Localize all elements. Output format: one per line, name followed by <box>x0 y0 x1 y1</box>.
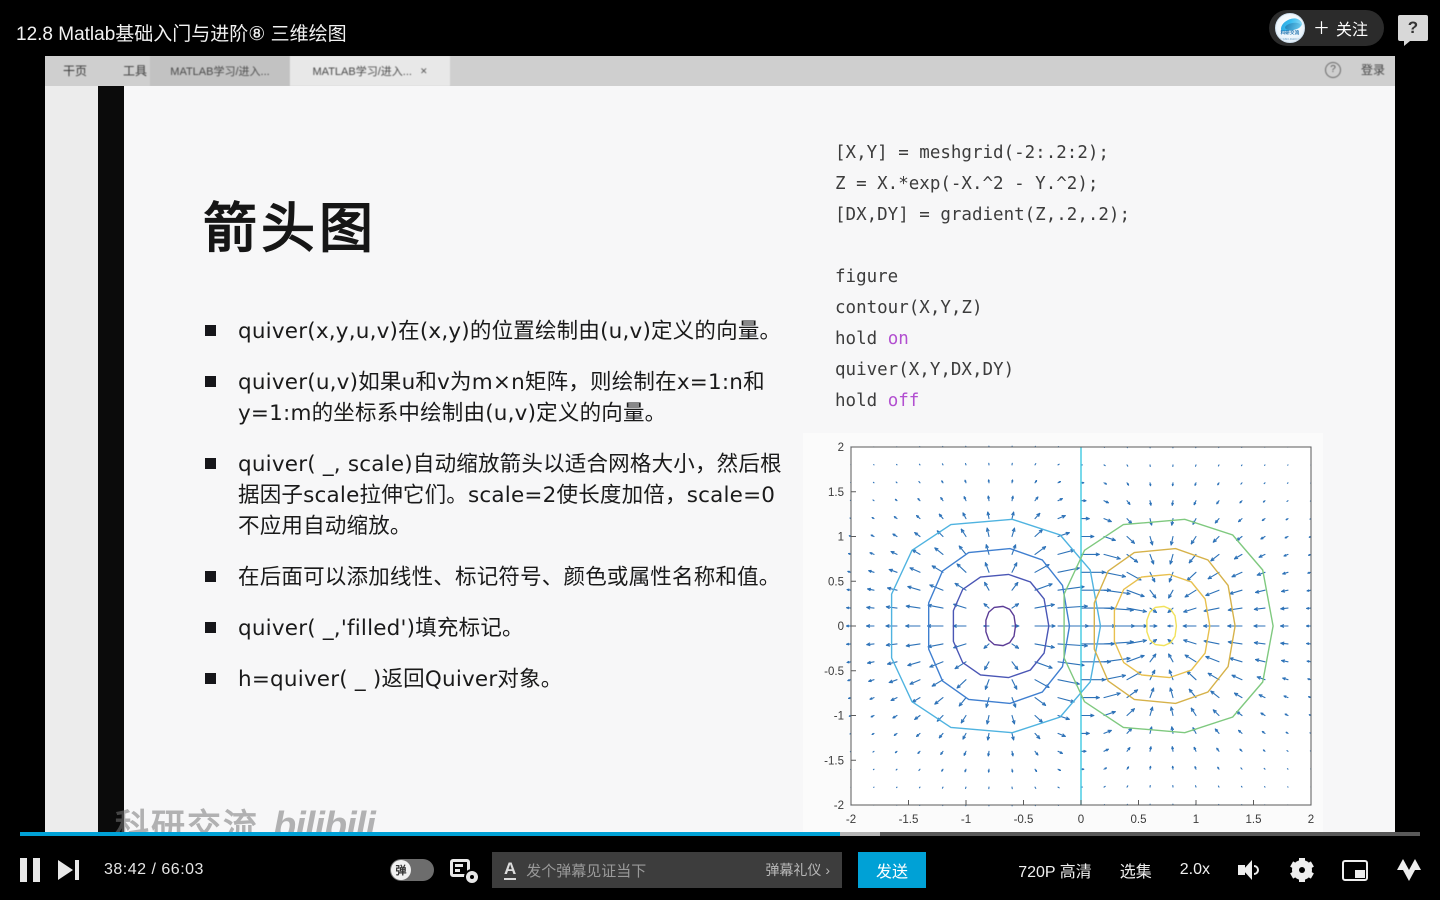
bullet-text: 在后面可以添加线性、标记符号、颜色或属性名称和值。 <box>238 562 781 593</box>
slide-left-margin <box>45 86 98 832</box>
browser-help-icon[interactable]: ? <box>1325 62 1341 78</box>
svg-text:1.5: 1.5 <box>828 487 844 499</box>
svg-text:1: 1 <box>838 532 844 544</box>
danmaku-input[interactable]: A 发个弹幕见证当下 弹幕礼仪 › <box>492 852 842 888</box>
bullet-text: quiver(u,v)如果u和v为m×n矩阵，则绘制在x=1:n和y=1:m的坐… <box>238 367 790 429</box>
svg-text:1.5: 1.5 <box>1246 814 1262 826</box>
code-line: quiver(X,Y,DX,DY) <box>835 360 1014 380</box>
svg-text:0: 0 <box>838 621 844 633</box>
picture-in-picture-icon[interactable] <box>1342 860 1368 881</box>
browser-toolbar: 干页 工具 MATLAB学习/进入... MATLAB学习/进入... ✕ ? … <box>45 56 1395 86</box>
bullet-square-icon <box>205 376 216 387</box>
playback-speed-button[interactable]: 2.0x <box>1180 861 1210 879</box>
bullet-text: h=quiver( _ )返回Quiver对象。 <box>238 664 563 695</box>
svg-text:0.5: 0.5 <box>828 576 844 588</box>
code-line: contour(X,Y,Z) <box>835 298 983 318</box>
bullet-square-icon <box>205 673 216 684</box>
browser-menu-item-1[interactable]: 工具 <box>123 62 147 79</box>
svg-text:-2: -2 <box>834 800 844 812</box>
current-time: 38:42 <box>104 861 147 878</box>
matlab-figure: -2-1.5-1-0.500.511.52-2-1.5-1-0.500.511.… <box>803 433 1323 832</box>
code-line: hold <box>835 329 888 349</box>
svg-text:2: 2 <box>838 442 844 454</box>
svg-text:-0.5: -0.5 <box>1014 814 1034 826</box>
svg-text:-1: -1 <box>834 711 844 723</box>
avatar-subname: KE YAN JIAO LIU <box>1276 37 1304 41</box>
code-keyword: on <box>888 329 909 349</box>
close-icon[interactable]: ✕ <box>420 66 428 77</box>
browser-tab-0-label: MATLAB学习/进入... <box>170 63 269 79</box>
danmaku-etiquette-link[interactable]: 弹幕礼仪 › <box>765 860 842 880</box>
bullet-square-icon <box>205 458 216 469</box>
progress-bar[interactable] <box>0 826 1440 840</box>
code-line: [X,Y] = meshgrid(-2:.2:2); <box>835 143 1109 163</box>
bullet-text: quiver( _, scale)自动缩放箭头以适合网格大小，然后根据因子sca… <box>238 449 790 542</box>
svg-text:-1.5: -1.5 <box>899 814 919 826</box>
follow-label: 关注 <box>1336 16 1368 40</box>
gear-icon[interactable] <box>1290 858 1314 882</box>
player-controls: 38:42 / 66:03 弹 A 发个弹幕见证当下 弹幕礼仪 › 发送 720… <box>0 840 1440 900</box>
pause-icon <box>20 858 40 882</box>
send-button[interactable]: 发送 <box>858 852 926 888</box>
controls-middle: 弹 A 发个弹幕见证当下 弹幕礼仪 › 发送 <box>390 840 926 900</box>
danmaku-toggle[interactable]: 弹 <box>390 859 434 881</box>
slide-canvas: 箭头图 quiver(x,y,u,v)在(x,y)的位置绘制由(u,v)定义的向… <box>45 86 1395 832</box>
slide-title: 箭头图 <box>203 184 377 263</box>
code-block: [X,Y] = meshgrid(-2:.2:2); Z = X.*exp(-X… <box>835 138 1305 417</box>
video-stage[interactable]: 干页 工具 MATLAB学习/进入... MATLAB学习/进入... ✕ ? … <box>45 56 1395 832</box>
time-separator: / <box>152 861 157 878</box>
bullet-text: quiver(x,y,u,v)在(x,y)的位置绘制由(u,v)定义的向量。 <box>238 316 781 347</box>
bullet-square-icon <box>205 571 216 582</box>
pause-button[interactable] <box>20 858 40 882</box>
bullet-text: quiver( _,'filled')填充标记。 <box>238 613 524 644</box>
episode-list-button[interactable]: 选集 <box>1120 858 1152 882</box>
controls-left: 38:42 / 66:03 <box>20 840 204 900</box>
browser-tab-0[interactable]: MATLAB学习/进入... <box>150 56 290 86</box>
list-item: 在后面可以添加线性、标记符号、颜色或属性名称和值。 <box>205 562 790 593</box>
bullet-square-icon <box>205 325 216 336</box>
svg-text:0.5: 0.5 <box>1131 814 1147 826</box>
code-line: hold <box>835 391 888 411</box>
list-item: quiver( _,'filled')填充标记。 <box>205 613 790 644</box>
list-item: h=quiver( _ )返回Quiver对象。 <box>205 664 790 695</box>
video-player-page: 12.8 Matlab基础入门与进阶⑧ 三维绘图 科研交流 KE YAN JIA… <box>0 0 1440 900</box>
browser-menu-item-0[interactable]: 干页 <box>63 62 87 79</box>
svg-text:1: 1 <box>1193 814 1199 826</box>
slide-bullet-list: quiver(x,y,u,v)在(x,y)的位置绘制由(u,v)定义的向量。 q… <box>205 316 790 715</box>
contour-quiver-plot: -2-1.5-1-0.500.511.52-2-1.5-1-0.500.511.… <box>803 433 1323 832</box>
code-line: Z = X.*exp(-X.^2 - Y.^2); <box>835 174 1098 194</box>
progress-fill <box>20 832 840 836</box>
svg-text:-2: -2 <box>846 814 856 826</box>
code-line: figure <box>835 267 898 287</box>
browser-toolbar-right: ? 登录 <box>1325 61 1385 78</box>
danmaku-toggle-label: 弹 <box>391 860 411 880</box>
danmaku-placeholder[interactable]: 发个弹幕见证当下 <box>526 860 765 881</box>
code-line: [DX,DY] = gradient(Z,.2,.2); <box>835 205 1130 225</box>
list-item: quiver( _, scale)自动缩放箭头以适合网格大小，然后根据因子sca… <box>205 449 790 542</box>
slide-accent-bar <box>98 86 124 832</box>
next-icon <box>58 860 80 880</box>
svg-text:2: 2 <box>1308 814 1314 826</box>
browser-tab-1[interactable]: MATLAB学习/进入... ✕ <box>290 56 450 86</box>
svg-text:-1: -1 <box>961 814 971 826</box>
svg-text:0: 0 <box>1078 814 1084 826</box>
svg-text:-0.5: -0.5 <box>824 666 844 678</box>
browser-tab-1-label: MATLAB学习/进入... <box>313 63 412 79</box>
list-item: quiver(x,y,u,v)在(x,y)的位置绘制由(u,v)定义的向量。 <box>205 316 790 347</box>
svg-text:-1.5: -1.5 <box>824 755 844 767</box>
danmaku-settings-icon[interactable] <box>450 859 476 881</box>
quality-selector[interactable]: 720P 高清 <box>1018 858 1092 882</box>
list-item: quiver(u,v)如果u和v为m×n矩阵，则绘制在x=1:n和y=1:m的坐… <box>205 367 790 429</box>
bullet-square-icon <box>205 622 216 633</box>
help-icon[interactable]: ? <box>1398 15 1428 41</box>
plus-icon: ＋ <box>1313 20 1330 37</box>
duration: 66:03 <box>161 861 204 878</box>
avatar-name: 科研交流 <box>1276 30 1304 36</box>
avatar[interactable]: 科研交流 KE YAN JIAO LIU <box>1275 13 1305 43</box>
code-keyword: off <box>888 391 920 411</box>
controls-right: 720P 高清 选集 2.0x <box>1018 840 1422 900</box>
browser-login-link[interactable]: 登录 <box>1361 61 1385 78</box>
time-display: 38:42 / 66:03 <box>104 861 204 879</box>
page-title: 12.8 Matlab基础入门与进阶⑧ 三维绘图 <box>16 24 347 46</box>
widescreen-icon[interactable] <box>1396 859 1422 881</box>
volume-icon[interactable] <box>1238 860 1262 880</box>
danmaku-font-icon[interactable]: A <box>504 860 516 880</box>
next-episode-button[interactable] <box>58 860 80 880</box>
page-header: 12.8 Matlab基础入门与进阶⑧ 三维绘图 科研交流 KE YAN JIA… <box>0 0 1440 56</box>
follow-button[interactable]: 科研交流 KE YAN JIAO LIU ＋ 关注 <box>1269 10 1384 46</box>
header-actions: 科研交流 KE YAN JIAO LIU ＋ 关注 ? <box>1269 10 1428 46</box>
